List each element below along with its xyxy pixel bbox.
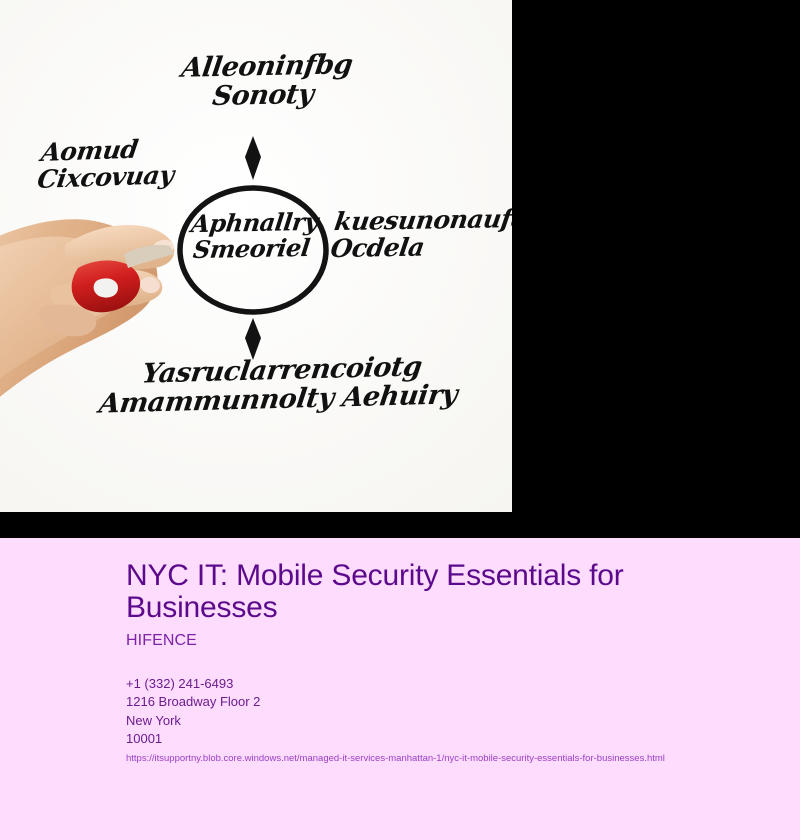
page-title: NYC IT: Mobile Security Essentials for B… bbox=[126, 560, 706, 625]
contact-city: New York bbox=[126, 712, 780, 731]
diagram-label-top: Alleoninfbg Sonoty bbox=[146, 50, 385, 113]
contact-block: +1 (332) 241-6493 1216 Broadway Floor 2 … bbox=[126, 675, 780, 749]
page-root: Alleoninfbg Sonoty Aomud Cixcovuay kuesu… bbox=[0, 0, 800, 840]
marker-highlight bbox=[94, 278, 118, 297]
contact-street: 1216 Broadway Floor 2 bbox=[126, 693, 780, 712]
diagram-label-left: Aomud Cixcovuay bbox=[36, 133, 215, 193]
hero-image: Alleoninfbg Sonoty Aomud Cixcovuay kuesu… bbox=[0, 0, 512, 512]
diagram-label-right: kuesunonaufa Ocdela bbox=[329, 204, 512, 262]
info-panel: NYC IT: Mobile Security Essentials for B… bbox=[0, 538, 800, 840]
source-url[interactable]: https://itsupportny.blob.core.windows.ne… bbox=[126, 752, 780, 766]
brand-name: HIFENCE bbox=[126, 632, 780, 650]
gutter-bottom bbox=[0, 512, 512, 538]
contact-postal-code: 10001 bbox=[126, 730, 780, 749]
contact-phone: +1 (332) 241-6493 bbox=[126, 675, 780, 694]
info-content: NYC IT: Mobile Security Essentials for B… bbox=[126, 560, 780, 766]
gutter-right bbox=[512, 0, 800, 538]
diagram-label-bottom: Yasruclarrencoiotg Amammunnolty Aehuiry bbox=[95, 351, 464, 419]
diagram-label-center: Aphnallry Smeoriel bbox=[175, 209, 332, 263]
